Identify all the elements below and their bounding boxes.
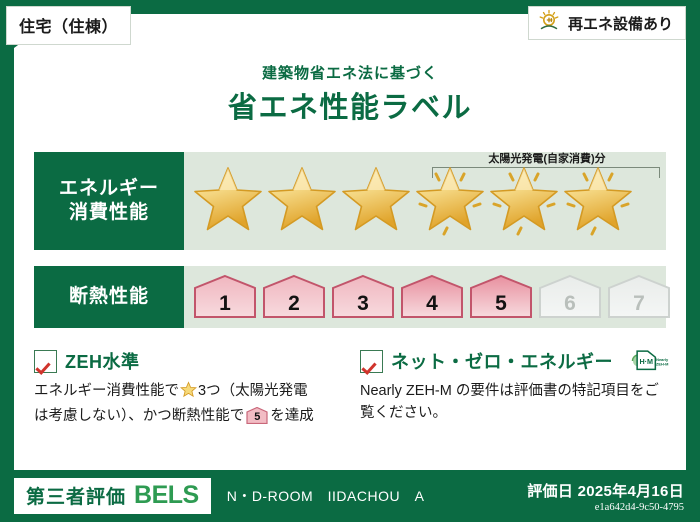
energy-label-line1: エネルギー (59, 177, 159, 201)
inline-grade-value: 5 (246, 409, 268, 426)
zeh-text-part3: を達成 (270, 408, 314, 424)
solar-sun-icon (537, 9, 561, 38)
insulation-performance-label: 断熱性能 (34, 266, 184, 328)
grade-badge-1: 1 (192, 274, 258, 320)
net-zero-heading: ネット・ゼロ・エネルギー H·M Nearly ZEH-M (360, 348, 672, 374)
grade-badge-4: 4 (399, 274, 465, 320)
star-6 (562, 164, 635, 238)
check-icon (360, 350, 383, 373)
grade-badge-6: 6 (537, 274, 603, 320)
star-1 (192, 164, 265, 238)
zeh-heading: ZEH水準 (34, 348, 346, 374)
grade-scale: 1234567 (184, 274, 672, 320)
grade-value: 4 (426, 292, 438, 316)
insulation-label-text: 断熱性能 (69, 285, 149, 309)
energy-label-line2: 消費性能 (69, 201, 149, 225)
bels-energy-performance-label: 住宅（住棟） 再エネ設備あり 建築物省エネ法に基づく 省エネ性能ラベル (0, 0, 700, 522)
zeh-description: エネルギー消費性能で3つ（太陽光発電は考慮しない）、かつ断熱性能で5を達成 (34, 380, 346, 428)
grade-value: 6 (564, 292, 576, 316)
label-subtitle: 建築物省エネ法に基づく (0, 62, 700, 83)
grade-value: 2 (288, 292, 300, 316)
label-footer: 第三者評価 BELS N・D-ROOM IIDACHOU A 評価日 2025年… (0, 470, 700, 522)
renewable-badge-label: 再エネ設備あり (568, 13, 673, 34)
zeh-star-count-text: 3つ（太陽光発電 (198, 383, 308, 399)
evaluation-id: e1a642d4-9c50-4795 (527, 502, 684, 513)
label-title: 省エネ性能ラベル (0, 84, 700, 126)
evaluation-date: 評価日 2025年4月16日 (527, 480, 684, 501)
grade-badge-2: 2 (261, 274, 327, 320)
zeh-text-part2: は考慮しない）、かつ断熱性能で (34, 408, 244, 424)
bels-badge: 第三者評価 BELS (14, 478, 211, 514)
bels-japanese-label: 第三者評価 (26, 482, 126, 509)
star-4 (414, 164, 487, 238)
energy-performance-label: エネルギー 消費性能 (34, 152, 184, 250)
bels-english-label: BELS (134, 481, 199, 510)
svg-text:ZEH-M: ZEH-M (656, 362, 669, 367)
star-5 (488, 164, 561, 238)
criteria-columns: ZEH水準 エネルギー消費性能で3つ（太陽光発電は考慮しない）、かつ断熱性能で5… (34, 348, 672, 448)
star-rating (184, 164, 635, 238)
net-zero-title: ネット・ゼロ・エネルギー (391, 348, 613, 374)
grade-value: 7 (633, 292, 645, 316)
grade-value: 1 (219, 292, 231, 316)
inline-star-icon (180, 381, 197, 405)
zeh-title: ZEH水準 (65, 348, 140, 374)
renewable-equipment-badge: 再エネ設備あり (528, 6, 686, 40)
energy-performance-row: エネルギー 消費性能 太陽光発電(自家消費)分 (34, 152, 666, 250)
zeh-m-logo-icon: H·M Nearly ZEH-M (625, 348, 669, 374)
net-zero-description: Nearly ZEH-M の要件は評価書の特記項目をご覧ください。 (360, 380, 672, 425)
check-icon (34, 350, 57, 373)
grade-badge-7: 7 (606, 274, 672, 320)
star-3 (340, 164, 413, 238)
insulation-grades-area: 1234567 (184, 266, 672, 328)
grade-badge-3: 3 (330, 274, 396, 320)
category-chip: 住宅（住棟） (6, 6, 131, 45)
svg-text:H·M: H·M (639, 357, 653, 366)
grade-value: 5 (495, 292, 507, 316)
grade-value: 3 (357, 292, 369, 316)
grade-badge-5: 5 (468, 274, 534, 320)
zeh-standard-column: ZEH水準 エネルギー消費性能で3つ（太陽光発電は考慮しない）、かつ断熱性能で5… (34, 348, 346, 448)
inline-grade-badge: 5 (246, 407, 268, 424)
zeh-text-part1: エネルギー消費性能で (34, 383, 179, 399)
energy-stars-area: 太陽光発電(自家消費)分 (184, 152, 666, 250)
star-2 (266, 164, 339, 238)
evaluation-info: 評価日 2025年4月16日 e1a642d4-9c50-4795 (527, 480, 684, 513)
insulation-performance-row: 断熱性能 1234567 (34, 266, 666, 328)
building-name: N・D-ROOM IIDACHOU A (227, 486, 425, 506)
net-zero-energy-column: ネット・ゼロ・エネルギー H·M Nearly ZEH-M Nearly ZEH… (360, 348, 672, 448)
